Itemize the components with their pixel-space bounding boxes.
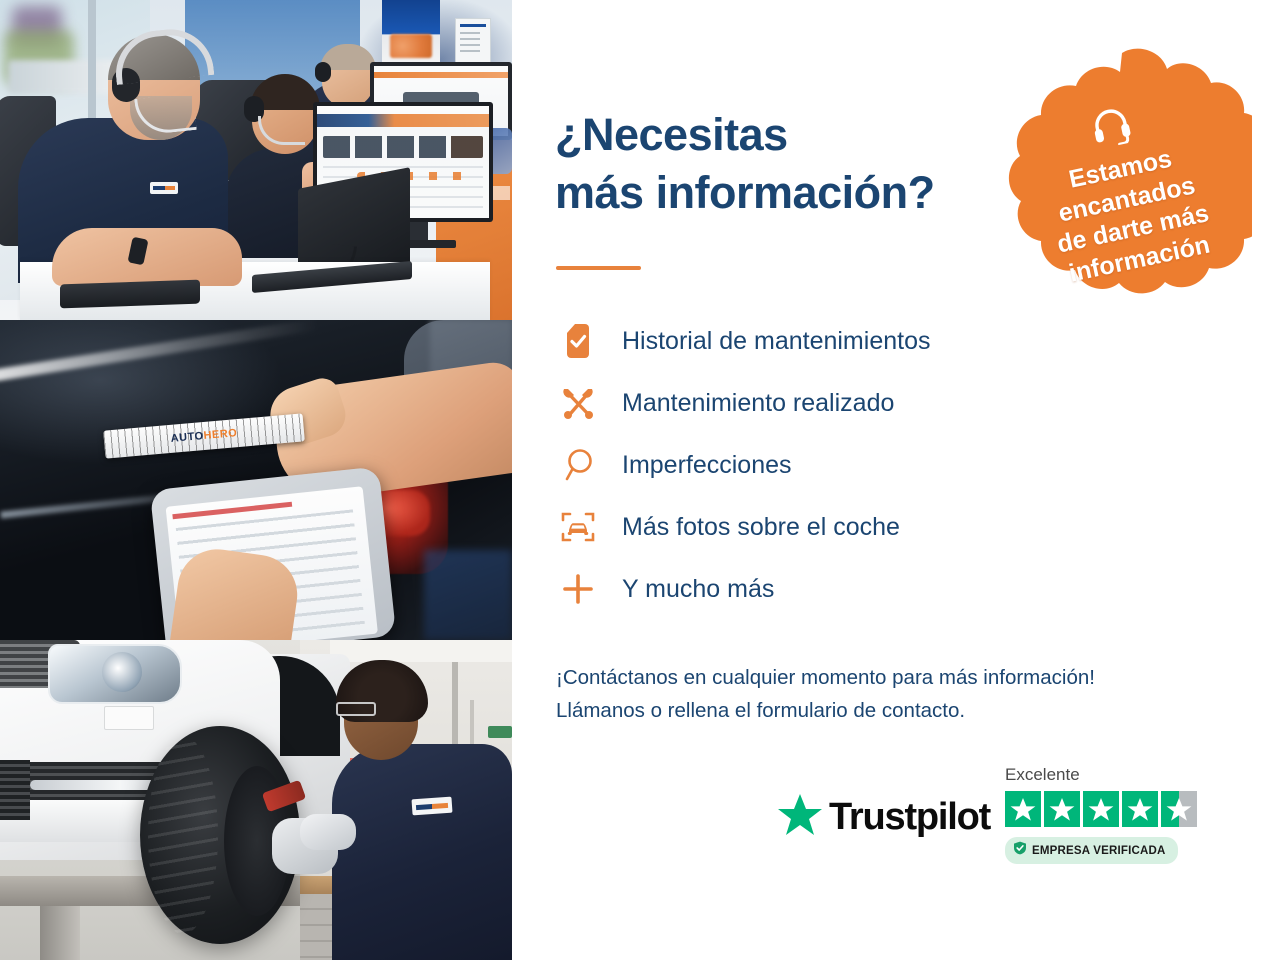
vehicle-lift-post bbox=[40, 906, 80, 960]
content-panel: ¿Necesitas más información? Historial de… bbox=[512, 0, 1280, 960]
photo-column: AUTOHERO bbox=[0, 0, 512, 960]
feature-item-imperfections: Imperfecciones bbox=[556, 434, 1116, 496]
trustpilot-rating: Excelente bbox=[1005, 765, 1220, 864]
car-frame-icon bbox=[556, 511, 600, 543]
side-air-intake bbox=[0, 760, 30, 820]
tools-icon bbox=[556, 386, 600, 420]
desk-tablet bbox=[60, 280, 200, 309]
verified-company-badge: EMPRESA VERIFICADA bbox=[1005, 837, 1178, 864]
rating-stars bbox=[1005, 791, 1220, 827]
verified-label: EMPRESA VERIFICADA bbox=[1032, 845, 1166, 857]
star-4 bbox=[1122, 791, 1158, 827]
mechanic-glasses bbox=[336, 702, 376, 716]
agent-one-arms bbox=[52, 228, 242, 286]
mechanic-glove-right bbox=[300, 814, 356, 850]
feature-label: Mantenimiento realizado bbox=[622, 389, 894, 418]
trustpilot-logo[interactable]: Trustpilot bbox=[777, 793, 990, 842]
feature-item-much-more: Y mucho más bbox=[556, 558, 1116, 620]
feature-item-more-photos: Más fotos sobre el coche bbox=[556, 496, 1116, 558]
call-center-agents-photo bbox=[0, 0, 512, 320]
tire-tread bbox=[148, 736, 218, 934]
wall-poster bbox=[382, 0, 440, 62]
feature-list: Historial de mantenimientos M bbox=[556, 310, 1116, 620]
plus-icon bbox=[556, 572, 600, 606]
promo-card: AUTOHERO bbox=[0, 0, 1280, 960]
mechanic-body bbox=[332, 744, 512, 960]
magnifier-icon bbox=[556, 448, 600, 482]
feature-label: Historial de mantenimientos bbox=[622, 327, 930, 356]
feature-item-maintenance-done: Mantenimiento realizado bbox=[556, 372, 1116, 434]
feature-label: Más fotos sobre el coche bbox=[622, 513, 900, 542]
monitor-car-thumbnails bbox=[323, 136, 483, 158]
star-1 bbox=[1005, 791, 1041, 827]
workshop-tire-photo bbox=[0, 640, 512, 960]
agent-three-headset bbox=[315, 62, 331, 82]
title-divider bbox=[556, 266, 641, 270]
headlight bbox=[48, 644, 182, 704]
shield-check-icon bbox=[1013, 841, 1027, 860]
rating-label: Excelente bbox=[1005, 765, 1220, 785]
trustpilot-star-icon bbox=[777, 793, 823, 842]
document-check-icon bbox=[556, 324, 600, 358]
info-badge: Estamos encantados de darte más informac… bbox=[992, 47, 1252, 307]
wall-green-fixture bbox=[488, 726, 512, 738]
contact-paragraph: ¡Contáctanos en cualquier momento para m… bbox=[556, 661, 1236, 727]
badge-text: Estamos encantados de darte más informac… bbox=[1042, 138, 1218, 289]
badge-content: Estamos encantados de darte más informac… bbox=[968, 23, 1276, 331]
trustpilot-widget[interactable]: Trustpilot Excelente bbox=[777, 765, 1227, 885]
wall-notice bbox=[455, 18, 491, 64]
star-5-half bbox=[1161, 791, 1197, 827]
workshop-ceiling bbox=[330, 640, 512, 662]
feature-label: Imperfecciones bbox=[622, 451, 792, 480]
feature-label: Y mucho más bbox=[622, 575, 774, 604]
headset-icon bbox=[1086, 100, 1137, 155]
car-inspection-photo: AUTOHERO bbox=[0, 320, 512, 640]
page-title: ¿Necesitas más información? bbox=[555, 106, 935, 221]
star-3 bbox=[1083, 791, 1119, 827]
agent-one-logo-badge bbox=[150, 182, 178, 194]
background-blue-fixture bbox=[424, 550, 512, 640]
star-2 bbox=[1044, 791, 1080, 827]
mechanic-logo-badge bbox=[411, 797, 452, 816]
license-plate-area bbox=[104, 706, 154, 730]
trustpilot-wordmark: Trustpilot bbox=[829, 796, 990, 839]
